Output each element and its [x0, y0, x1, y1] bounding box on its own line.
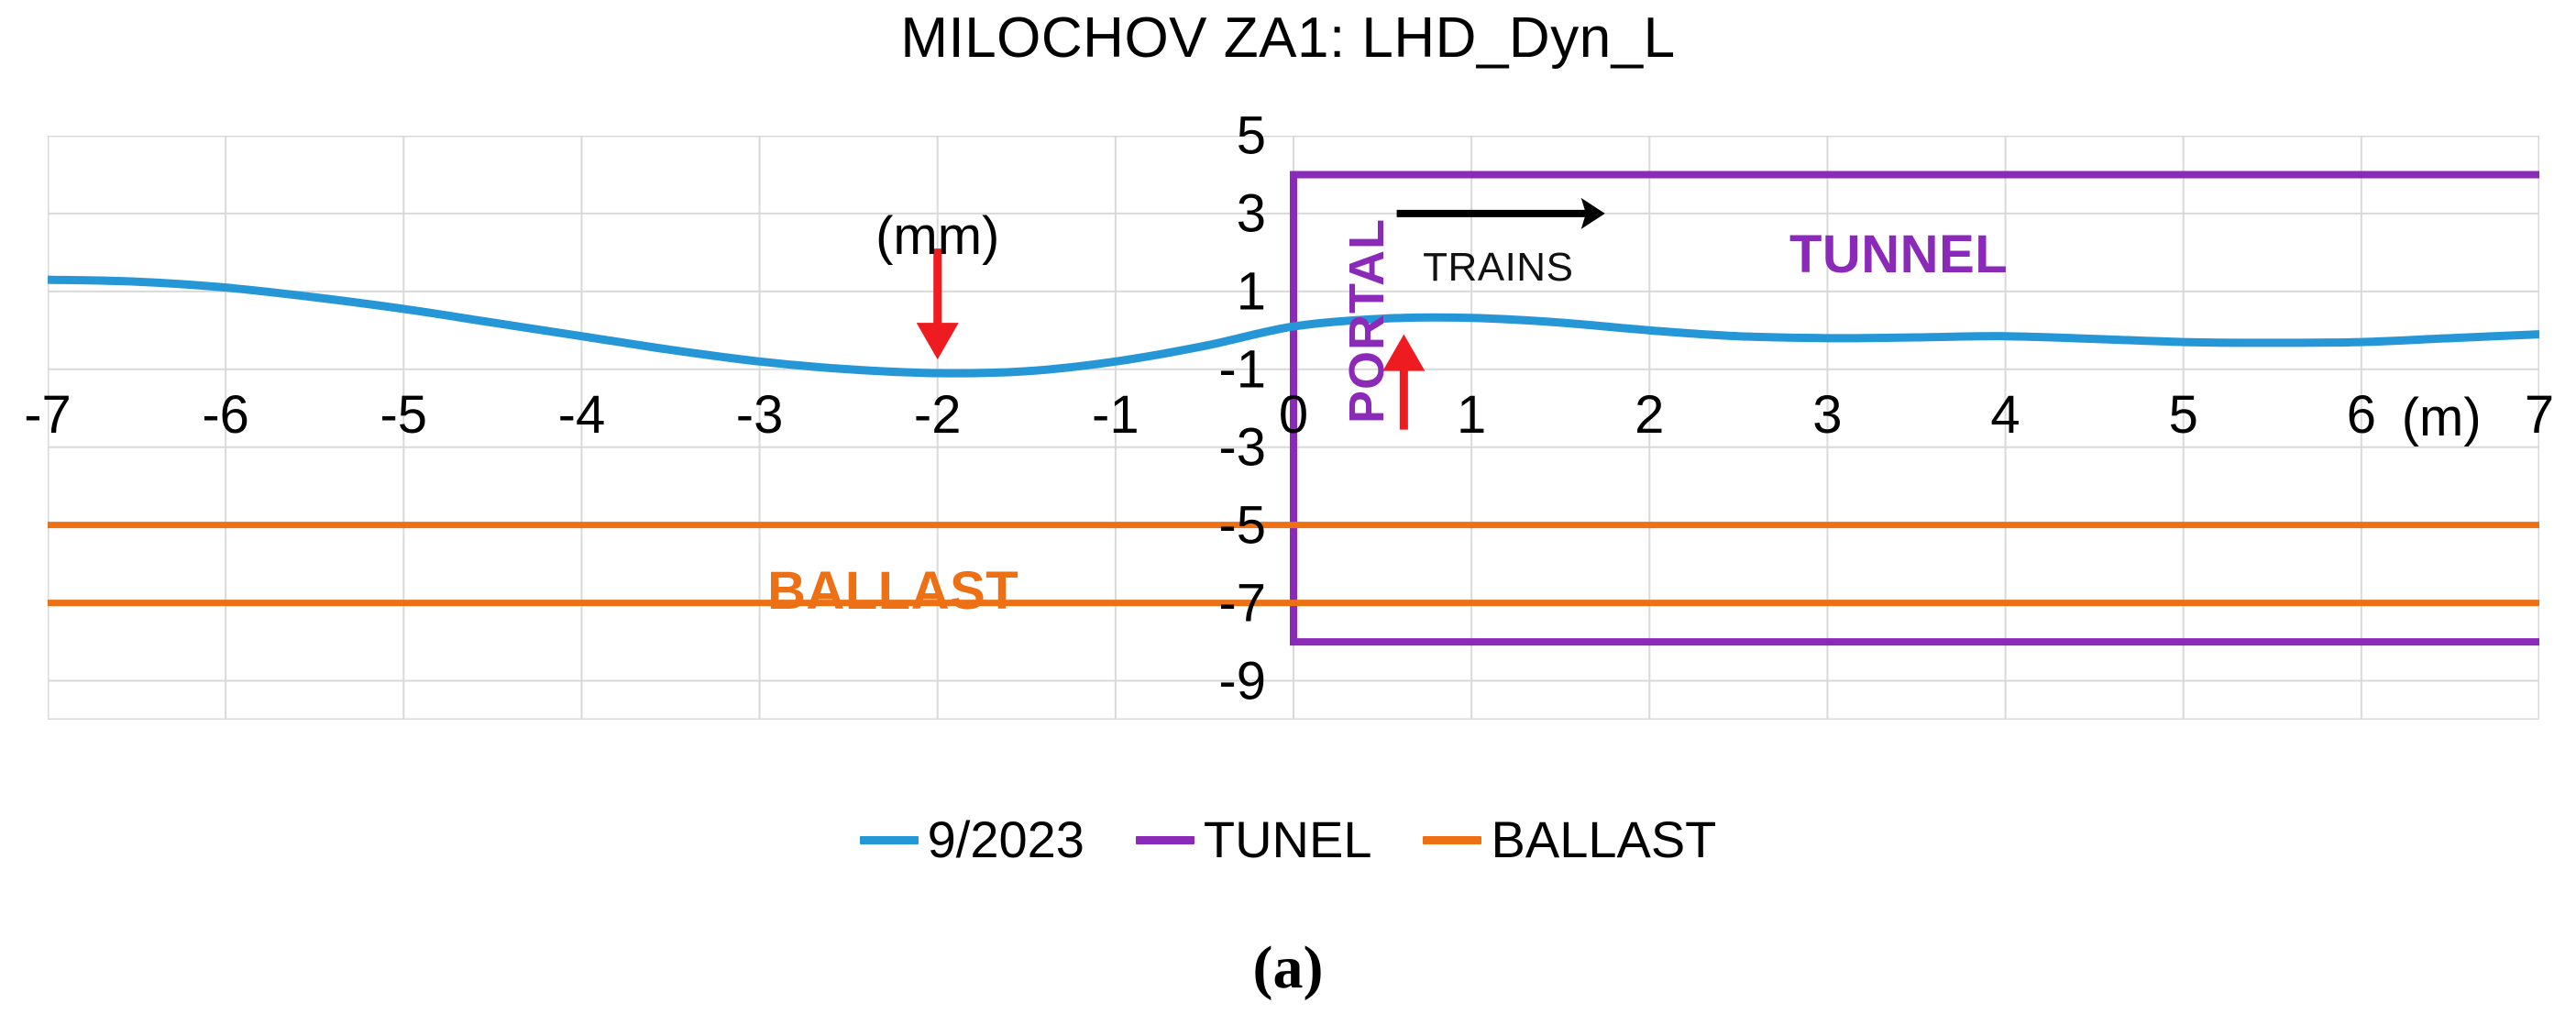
legend-label: 9/2023 [928, 814, 1084, 865]
tunnel-label: TUNNEL [1789, 224, 2008, 285]
portal-label: PORTAL [1338, 218, 1395, 424]
legend-item[interactable]: 9/2023 [860, 814, 1084, 865]
x-tick-label: -2 [914, 384, 962, 446]
legend-item[interactable]: TUNEL [1136, 814, 1372, 865]
y-tick-label: 5 [1147, 105, 1266, 167]
x-tick-label: 2 [1635, 384, 1664, 446]
chart-figure: MILOCHOV ZA1: LHD_Dyn_L -7-6-5-4-3-2-101… [0, 0, 2576, 1036]
legend-label: BALLAST [1491, 814, 1716, 865]
x-tick-label: 7 [2525, 384, 2554, 446]
y-tick-label: -9 [1147, 650, 1266, 711]
legend-swatch-icon [1136, 836, 1194, 844]
x-tick-label: -6 [202, 384, 249, 446]
legend-label: TUNEL [1204, 814, 1372, 865]
legend-swatch-icon [860, 836, 919, 844]
x-axis-unit-label: (m) [2402, 387, 2482, 448]
arrow-head [917, 323, 959, 359]
legend-swatch-icon [1423, 836, 1481, 844]
legend-item[interactable]: BALLAST [1423, 814, 1716, 865]
x-tick-label: 1 [1457, 384, 1486, 446]
chart-title: MILOCHOV ZA1: LHD_Dyn_L [0, 6, 2576, 71]
y-axis-unit-label: (mm) [875, 205, 999, 267]
x-tick-label: -1 [1092, 384, 1139, 446]
trains-arrow [1397, 198, 1605, 229]
y-tick-label: 1 [1147, 260, 1266, 322]
x-tick-label: 5 [2169, 384, 2198, 446]
y-tick-label: -1 [1147, 338, 1266, 400]
trains-label: TRAINS [1423, 245, 1573, 291]
y-tick-label: 3 [1147, 182, 1266, 244]
ballast-label: BALLAST [767, 560, 1018, 622]
x-tick-label: -7 [24, 384, 72, 446]
x-tick-label: 0 [1279, 384, 1308, 446]
x-tick-label: -4 [558, 384, 606, 446]
x-tick-label: 6 [2347, 384, 2376, 446]
x-tick-label: -5 [380, 384, 427, 446]
x-tick-label: 3 [1812, 384, 1842, 446]
x-tick-label: 4 [1990, 384, 2020, 446]
figure-caption: (a) [0, 933, 2576, 1003]
chart-legend: 9/2023TUNELBALLAST [0, 814, 2576, 865]
x-tick-label: -3 [736, 384, 784, 446]
y-tick-label: -3 [1147, 416, 1266, 478]
y-tick-label: -5 [1147, 494, 1266, 556]
y-tick-label: -7 [1147, 572, 1266, 634]
